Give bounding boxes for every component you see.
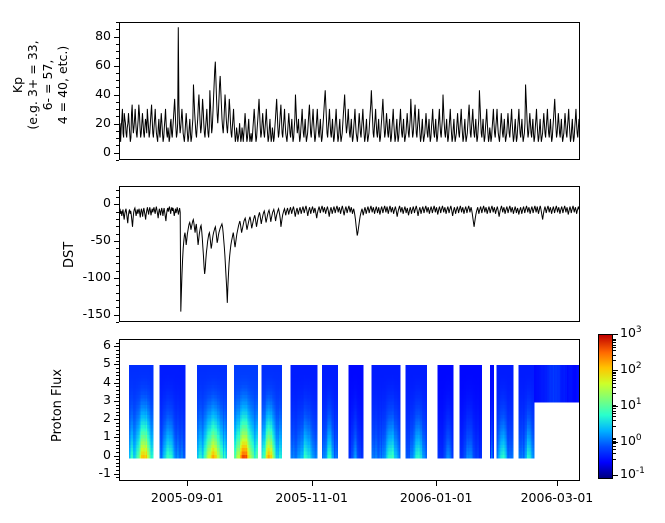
- flux-band: [261, 365, 282, 458]
- flux-y-minor-tick: [116, 375, 119, 376]
- flux-y-minor-tick: [116, 386, 119, 387]
- kp-y-minor-tick: [116, 73, 119, 74]
- flux-y-minor-tick: [116, 459, 119, 460]
- flux-band: [291, 365, 318, 458]
- kp-y-minor-tick: [116, 102, 119, 103]
- flux-y-tick-label: 1: [67, 430, 111, 442]
- flux-y-minor-tick: [116, 445, 119, 446]
- figure-canvas: 806040200 Kp(e.g. 3+ = 33,6- = 57,4 = 40…: [0, 0, 665, 523]
- flux-band: [197, 365, 227, 458]
- kp-y-tick: [114, 66, 119, 67]
- colorbar-minor-tick: [613, 441, 616, 442]
- kp-y-minor-tick: [116, 22, 119, 23]
- flux-y-minor-tick: [116, 354, 119, 355]
- flux-band: [518, 365, 534, 458]
- colorbar-minor-tick: [613, 387, 616, 388]
- flux-y-minor-tick: [116, 470, 119, 471]
- dst-y-minor-tick: [116, 190, 119, 191]
- colorbar-minor-tick: [613, 378, 616, 379]
- flux-band: [534, 365, 579, 403]
- proton-flux-spectrogram: [120, 340, 579, 480]
- dst-trace: [120, 187, 579, 321]
- flux-y-minor-tick: [116, 466, 119, 467]
- kp-y-tick-label: 20: [67, 117, 111, 129]
- colorbar-gradient: [598, 334, 613, 479]
- colorbar-minor-tick: [613, 350, 616, 351]
- colorbar-minor-tick: [613, 380, 616, 381]
- flux-y-tick: [114, 401, 119, 402]
- flux-y-minor-tick: [116, 405, 119, 406]
- flux-y-tick-label: 2: [67, 412, 111, 424]
- kp-y-minor-tick: [116, 44, 119, 45]
- kp-y-tick-label: 60: [67, 59, 111, 71]
- colorbar-label-mantissa: 10: [620, 325, 636, 340]
- colorbar-minor-tick: [613, 446, 616, 447]
- colorbar-label-mantissa: 10: [620, 467, 636, 482]
- flux-y-tick: [114, 456, 119, 457]
- dst-y-minor-tick: [116, 322, 119, 323]
- kp-trace: [120, 23, 579, 159]
- flux-band: [322, 365, 338, 458]
- kp-axis-title-line: 4 = 40, etc.): [55, 10, 70, 160]
- colorbar-label-exponent: -1: [636, 466, 645, 476]
- kp-svg-path: [120, 27, 579, 142]
- colorbar: [598, 334, 613, 479]
- flux-y-minor-tick: [116, 448, 119, 449]
- dst-y-tick: [114, 315, 119, 316]
- flux-y-minor-tick: [116, 463, 119, 464]
- colorbar-minor-tick: [613, 438, 616, 439]
- flux-y-tick: [114, 364, 119, 365]
- x-tick: [436, 481, 437, 486]
- colorbar-minor-tick: [613, 345, 616, 346]
- x-tick: [312, 481, 313, 486]
- flux-y-minor-tick: [116, 350, 119, 351]
- dst-y-minor-tick: [116, 234, 119, 235]
- colorbar-minor-tick: [613, 372, 616, 373]
- colorbar-minor-tick: [613, 393, 616, 394]
- flux-band: [460, 365, 482, 458]
- colorbar-tick-label: 100: [620, 433, 642, 448]
- flux-y-minor-tick: [116, 434, 119, 435]
- flux-band: [490, 365, 494, 458]
- colorbar-tick-label: 102: [620, 361, 642, 376]
- x-tick-label: 2005-11-01: [262, 490, 362, 505]
- dst-y-tick-label: -100: [67, 271, 111, 283]
- x-tick-label: 2005-09-01: [137, 490, 237, 505]
- dst-axis-title: DST: [62, 242, 77, 268]
- colorbar-label-exponent: 1: [636, 397, 642, 407]
- dst-svg-path: [120, 206, 579, 312]
- kp-y-minor-tick: [116, 87, 119, 88]
- dst-y-tick: [114, 241, 119, 242]
- flux-y-minor-tick: [116, 343, 119, 344]
- colorbar-minor-tick: [613, 360, 616, 361]
- dst-y-minor-tick: [116, 248, 119, 249]
- kp-y-minor-tick: [116, 138, 119, 139]
- kp-y-minor-tick: [116, 109, 119, 110]
- colorbar-tick-label: 103: [620, 325, 642, 340]
- kp-y-tick-label: 0: [67, 146, 111, 158]
- x-tick: [187, 481, 188, 486]
- colorbar-minor-tick: [613, 439, 616, 440]
- dst-y-minor-tick: [116, 300, 119, 301]
- flux-y-minor-tick: [116, 361, 119, 362]
- kp-y-minor-tick: [116, 160, 119, 161]
- kp-plot-panel: [119, 22, 580, 160]
- kp-y-minor-tick: [116, 29, 119, 30]
- flux-band: [159, 365, 185, 458]
- flux-y-tick: [114, 437, 119, 438]
- flux-y-tick: [114, 474, 119, 475]
- colorbar-minor-tick: [613, 347, 616, 348]
- flux-y-tick: [114, 419, 119, 420]
- dst-y-minor-tick: [116, 226, 119, 227]
- dst-y-minor-tick: [116, 256, 119, 257]
- colorbar-tick-label: 10-1: [620, 466, 645, 481]
- kp-y-minor-tick: [116, 80, 119, 81]
- kp-axis-title-line: (e.g. 3+ = 33,: [25, 10, 40, 160]
- flux-y-minor-tick: [116, 372, 119, 373]
- colorbar-minor-tick: [613, 413, 616, 414]
- colorbar-label-exponent: 0: [636, 433, 642, 443]
- flux-y-minor-tick: [116, 379, 119, 380]
- colorbar-tick-label: 101: [620, 397, 642, 412]
- colorbar-minor-tick: [613, 405, 616, 406]
- colorbar-minor-tick: [613, 453, 616, 454]
- dst-y-minor-tick: [116, 307, 119, 308]
- flux-y-tick-label: 5: [67, 357, 111, 369]
- kp-y-minor-tick: [116, 145, 119, 146]
- flux-y-tick-label: 4: [67, 376, 111, 388]
- flux-y-tick: [114, 346, 119, 347]
- colorbar-minor-tick: [613, 340, 616, 341]
- flux-y-tick-label: 0: [67, 449, 111, 461]
- flux-y-minor-tick: [116, 415, 119, 416]
- flux-band: [129, 365, 153, 458]
- kp-y-tick: [114, 124, 119, 125]
- dst-y-minor-tick: [116, 263, 119, 264]
- colorbar-minor-tick: [613, 459, 616, 460]
- kp-y-minor-tick: [116, 116, 119, 117]
- colorbar-minor-tick: [613, 408, 616, 409]
- flux-band: [349, 365, 364, 458]
- flux-y-minor-tick: [116, 477, 119, 478]
- kp-y-tick: [114, 37, 119, 38]
- dst-y-minor-tick: [116, 219, 119, 220]
- colorbar-tick: [613, 334, 618, 335]
- dst-y-tick: [114, 204, 119, 205]
- kp-y-tick-label: 80: [67, 30, 111, 42]
- kp-y-minor-tick: [116, 51, 119, 52]
- colorbar-minor-tick: [613, 342, 616, 343]
- kp-axis-title: Kp(e.g. 3+ = 33,6- = 57,4 = 40, etc.): [10, 10, 70, 160]
- flux-y-tick-label: 3: [67, 394, 111, 406]
- colorbar-minor-tick: [613, 383, 616, 384]
- flux-y-minor-tick: [116, 394, 119, 395]
- colorbar-tick: [613, 370, 618, 371]
- colorbar-label-mantissa: 10: [620, 433, 636, 448]
- kp-y-tick: [114, 95, 119, 96]
- flux-y-minor-tick: [116, 452, 119, 453]
- flux-y-minor-tick: [116, 397, 119, 398]
- colorbar-minor-tick: [613, 406, 616, 407]
- dst-plot-panel: [119, 186, 580, 322]
- flux-band: [372, 365, 401, 458]
- x-tick: [557, 481, 558, 486]
- colorbar-minor-tick: [613, 373, 616, 374]
- flux-y-minor-tick: [116, 426, 119, 427]
- flux-y-minor-tick: [116, 412, 119, 413]
- flux-y-tick: [114, 383, 119, 384]
- flux-y-minor-tick: [116, 441, 119, 442]
- x-tick-label: 2006-03-01: [507, 490, 607, 505]
- colorbar-label-exponent: 2: [636, 361, 642, 371]
- colorbar-minor-tick: [613, 426, 616, 427]
- colorbar-minor-tick: [613, 443, 616, 444]
- kp-y-tick: [114, 153, 119, 154]
- colorbar-minor-tick: [613, 416, 616, 417]
- colorbar-minor-tick: [613, 339, 616, 340]
- flux-band: [496, 365, 513, 458]
- flux-band: [405, 365, 426, 458]
- kp-y-tick-label: 40: [67, 88, 111, 100]
- proton-flux-axis-title: Proton Flux: [50, 369, 65, 442]
- colorbar-tick: [613, 475, 618, 476]
- colorbar-minor-tick: [613, 355, 616, 356]
- dst-y-tick-label: -150: [67, 308, 111, 320]
- proton-flux-plot-panel: [119, 339, 580, 481]
- colorbar-minor-tick: [613, 375, 616, 376]
- flux-y-minor-tick: [116, 368, 119, 369]
- flux-band: [438, 365, 454, 458]
- dst-y-minor-tick: [116, 212, 119, 213]
- colorbar-label-mantissa: 10: [620, 361, 636, 376]
- flux-y-tick-label: 6: [67, 339, 111, 351]
- dst-y-tick-label: 0: [67, 197, 111, 209]
- dst-y-minor-tick: [116, 285, 119, 286]
- dst-y-tick: [114, 278, 119, 279]
- flux-y-minor-tick: [116, 423, 119, 424]
- colorbar-label-mantissa: 10: [620, 397, 636, 412]
- flux-y-tick-label: -1: [67, 467, 111, 479]
- x-tick-label: 2006-01-01: [386, 490, 486, 505]
- flux-band: [234, 365, 258, 458]
- dst-y-minor-tick: [116, 293, 119, 294]
- dst-y-minor-tick: [116, 271, 119, 272]
- dst-y-minor-tick: [116, 197, 119, 198]
- kp-axis-title-line: 6- = 57,: [40, 10, 55, 160]
- kp-axis-title-line: Kp: [10, 10, 25, 160]
- flux-y-minor-tick: [116, 408, 119, 409]
- flux-y-minor-tick: [116, 357, 119, 358]
- colorbar-minor-tick: [613, 411, 616, 412]
- kp-y-minor-tick: [116, 58, 119, 59]
- colorbar-label-exponent: 3: [636, 325, 642, 335]
- kp-y-minor-tick: [116, 131, 119, 132]
- flux-y-minor-tick: [116, 430, 119, 431]
- flux-y-minor-tick: [116, 390, 119, 391]
- colorbar-minor-tick: [613, 420, 616, 421]
- colorbar-minor-tick: [613, 449, 616, 450]
